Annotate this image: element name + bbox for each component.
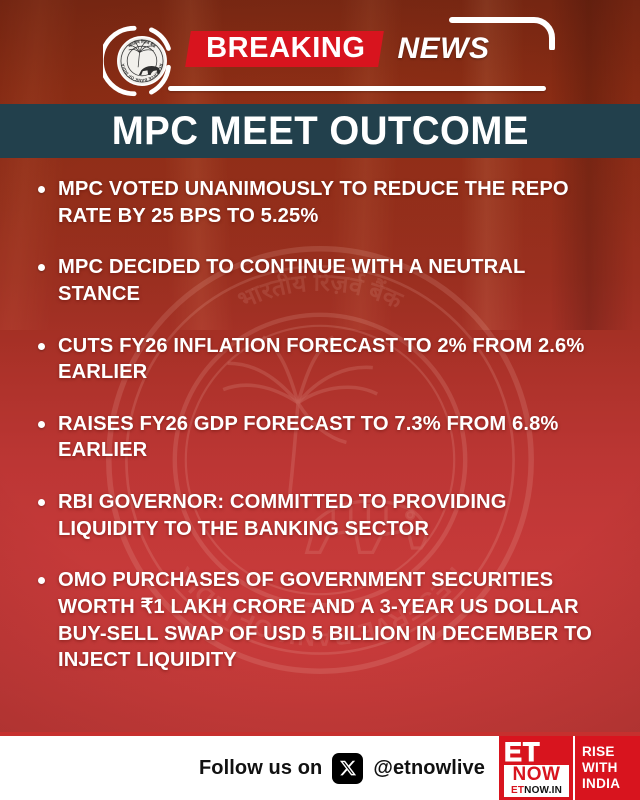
bullet-dot-icon [38,421,45,428]
list-item: MPC DECIDED TO CONTINUE WITH A NEUTRAL S… [34,254,614,307]
breaking-label: BREAKING [206,34,365,63]
list-item: MPC VOTED UNANIMOUSLY TO REDUCE THE REPO… [34,176,614,229]
tagline-line-3: INDIA [582,776,640,792]
header-divider [168,86,546,91]
etnow-url: ETNOW.IN [504,785,569,798]
bullet-text: CUTS FY26 INFLATION FORECAST TO 2% FROM … [58,333,606,386]
page-title: MPC MEET OUTCOME [111,111,528,151]
now-wordmark: NOW [504,765,569,785]
et-wordmark: ET [504,740,569,765]
breaking-news-header: भारतीय रिज़र्व बैंक RESERVE BANK OF INDI… [0,0,640,100]
follow-us-label: Follow us on [199,757,322,780]
breaking-news-card: भारतीय रिज़र्व बैंक RESERVE BANK OF INDI… [0,0,640,800]
breaking-tag: BREAKING [185,31,384,67]
etnow-logo-mark: ET NOW ETNOW.IN [499,736,573,800]
social-handle[interactable]: @etnowlive [373,757,485,780]
bullet-dot-icon [38,577,45,584]
etnow-tagline: RISE WITH INDIA [573,736,640,800]
list-item: OMO PURCHASES OF GOVERNMENT SECURITIES W… [34,567,614,674]
bullet-dot-icon [38,499,45,506]
bullet-text: MPC VOTED UNANIMOUSLY TO REDUCE THE REPO… [58,176,606,229]
bullet-text: RBI GOVERNOR: COMMITTED TO PROVIDING LIQ… [58,489,606,542]
bullet-dot-icon [38,186,45,193]
tagline-line-1: RISE [582,744,640,760]
bullet-text: RAISES FY26 GDP FORECAST TO 7.3% FROM 6.… [58,411,606,464]
title-band: MPC MEET OUTCOME [0,104,640,158]
breaking-news-banner: BREAKING NEWS [188,27,489,71]
etnow-url-prefix: ET [511,785,524,796]
x-twitter-icon[interactable] [332,753,363,784]
list-item: RAISES FY26 GDP FORECAST TO 7.3% FROM 6.… [34,411,614,464]
list-item: CUTS FY26 INFLATION FORECAST TO 2% FROM … [34,333,614,386]
bullet-dot-icon [38,264,45,271]
bullet-text: OMO PURCHASES OF GOVERNMENT SECURITIES W… [58,567,606,674]
etnow-logo[interactable]: ET NOW ETNOW.IN RISE WITH INDIA [499,736,640,800]
bullet-text: MPC DECIDED TO CONTINUE WITH A NEUTRAL S… [58,254,606,307]
bullet-dot-icon [38,343,45,350]
headline-bullet-list: MPC VOTED UNANIMOUSLY TO REDUCE THE REPO… [0,176,640,674]
footer-bar: Follow us on @etnowlive ET NOW ETNOW.IN … [0,736,640,800]
etnow-url-suffix: NOW.IN [524,785,562,796]
tagline-line-2: WITH [582,760,640,776]
social-follow-group: Follow us on @etnowlive [199,753,485,784]
list-item: RBI GOVERNOR: COMMITTED TO PROVIDING LIQ… [34,489,614,542]
corner-bracket-icon [448,14,558,50]
